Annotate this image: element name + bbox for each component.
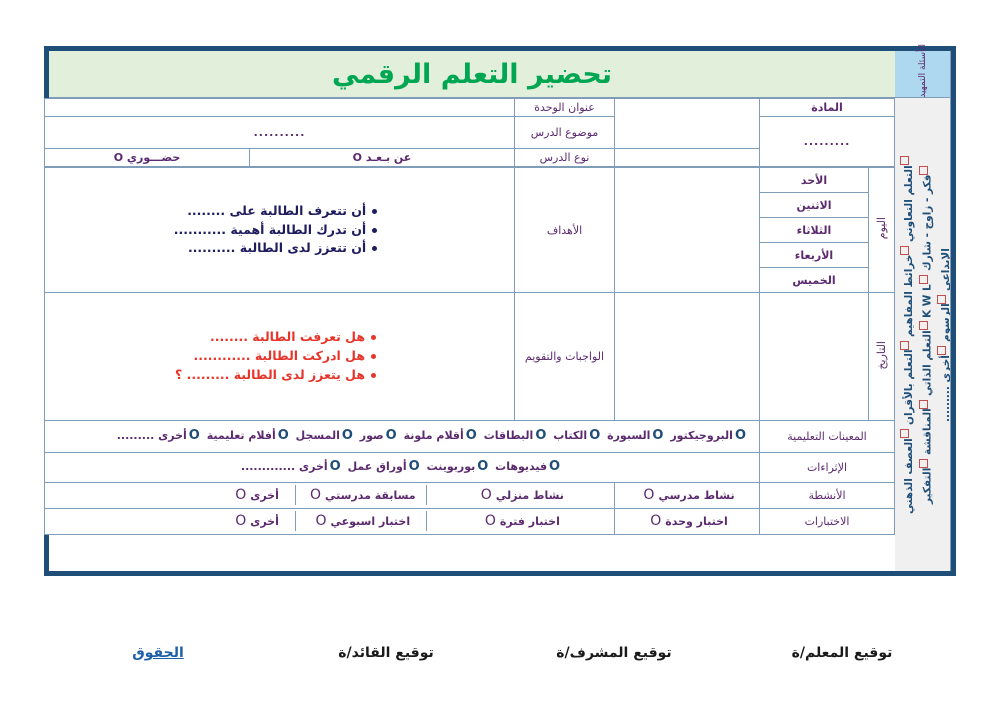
circle-icon[interactable]: O: [409, 459, 420, 474]
lesson-type-present-text: حضـــوري: [127, 151, 180, 164]
circle-icon[interactable]: O: [481, 487, 492, 503]
subject-extra-cell: [615, 99, 760, 149]
assessment-list: هل تعرفت الطالبة ........ هل ادركت الطال…: [175, 328, 384, 384]
goals-content-cell[interactable]: أن تتعرف الطالبة على ........ أن تدرك ال…: [45, 168, 515, 293]
strategy-item[interactable]: أخرى .........: [939, 345, 950, 421]
checkbox-icon[interactable]: [900, 340, 909, 349]
topic-value-field[interactable]: ..........: [45, 117, 515, 149]
lesson-type-remote-option[interactable]: عن بـعـد O: [250, 149, 515, 167]
day-monday[interactable]: الاثنين: [760, 193, 869, 218]
strategy-item[interactable]: الرسوم: [939, 294, 950, 342]
list-item: أن تدرك الطالبة أهمية ...........: [174, 221, 385, 240]
assessment-content-cell[interactable]: هل تعرفت الطالبة ........ هل ادركت الطال…: [45, 293, 515, 421]
circle-icon[interactable]: O: [650, 513, 661, 529]
lesson-type-label: نوع الدرس: [515, 149, 615, 167]
assessment-text: هل تعرفت الطالبة ........: [210, 329, 365, 344]
circle-icon[interactable]: O: [535, 428, 546, 443]
checkbox-icon[interactable]: [918, 321, 927, 330]
bullet-icon: [372, 209, 377, 214]
circle-icon[interactable]: O: [342, 428, 353, 443]
lesson-type-remote-circle-icon[interactable]: O: [353, 151, 362, 164]
circle-icon[interactable]: O: [549, 459, 560, 474]
assessment-text: هل يتعزز لدى الطالبة ......... ؟: [175, 367, 365, 382]
sidebar-body[interactable]: التعلم التعاوني خرائط المفاهيم التعلم با…: [895, 98, 950, 571]
strategy-item[interactable]: التعلم بالأقران: [903, 340, 915, 425]
checkbox-icon[interactable]: [918, 165, 927, 174]
activities-rest-cell: نشاط منزليO مسابقة مدرستيO أخرىO: [45, 482, 615, 508]
circle-icon[interactable]: O: [278, 428, 289, 443]
bullet-icon: [371, 373, 376, 378]
option-cards[interactable]: Oالبطاقات: [484, 429, 550, 442]
strategy-item[interactable]: المناقشة: [921, 399, 933, 455]
strategy-item[interactable]: العصف الذهني: [903, 428, 915, 513]
signature-footer: توقيع المعلم/ة توقيع المشرف/ة توقيع القا…: [44, 645, 956, 685]
bullet-icon: [372, 246, 377, 251]
table-row-activities: الأنشطة نشاط مدرسيO نشاط منزليO مسابقة م…: [45, 482, 895, 508]
signature-supervisor: توقيع المشرف/ة: [500, 645, 728, 661]
circle-icon[interactable]: O: [189, 428, 200, 443]
strategy-item[interactable]: فكر - زاوج - شارك: [921, 165, 933, 271]
goal-text: أن تتعرف الطالبة على ........: [187, 203, 366, 218]
lesson-plan-page: تحضير التعلم الرقمي المادة عنوان الوحدة …: [0, 0, 1000, 707]
option-projector[interactable]: Oالبروجيكتور: [670, 429, 749, 442]
bullet-icon: [371, 335, 376, 340]
activities-label: الأنشطة: [760, 482, 895, 508]
list-item: هل يتعزز لدى الطالبة ......... ؟: [175, 366, 384, 385]
day-vertical-label: اليوم: [869, 168, 895, 293]
option-worksheets[interactable]: Oأوراق عمل: [348, 460, 423, 473]
goal-text: أن تتعزز لدى الطالبة ..........: [188, 240, 366, 255]
checkbox-icon[interactable]: [918, 399, 927, 408]
circle-icon[interactable]: O: [485, 513, 496, 529]
strategies-sidebar: الأسئلة التمهيدية التعلم التعاوني خرائط …: [895, 51, 951, 571]
lesson-plan-frame: تحضير التعلم الرقمي المادة عنوان الوحدة …: [44, 46, 956, 576]
checkbox-icon[interactable]: [937, 345, 946, 354]
lesson-body-table: اليوم الأحد الأهداف أن تتعرف الطالبة على…: [44, 167, 895, 535]
option-powerpoint[interactable]: Oبوربوينت: [427, 460, 492, 473]
rights-link[interactable]: الحقوق: [44, 645, 272, 661]
page-title-bar: تحضير التعلم الرقمي: [49, 51, 895, 98]
table-row-date-assessment: التاريخ الواجبات والتقويم هل تعرفت الطال…: [45, 293, 895, 421]
circle-icon[interactable]: O: [310, 487, 321, 503]
unit-label: عنوان الوحدة: [515, 99, 615, 117]
assessment-text: هل ادركت الطالبة ............: [194, 348, 365, 363]
option-other[interactable]: Oأخرى .............: [241, 460, 344, 473]
main-content-column: تحضير التعلم الرقمي المادة عنوان الوحدة …: [49, 51, 895, 571]
day-thursday[interactable]: الخميس: [760, 268, 869, 293]
activity-school[interactable]: نشاط مدرسيO: [615, 482, 760, 508]
option-recorder[interactable]: Oالمسجل: [296, 429, 356, 442]
circle-icon[interactable]: O: [643, 487, 654, 503]
header-info-table: المادة عنوان الوحدة ......... موضوع الدر…: [44, 98, 895, 167]
table-row-day-1: اليوم الأحد الأهداف أن تتعرف الطالبة على…: [45, 168, 895, 193]
table-row-tests: الاختبارات اختبار وحدةO اختبار فترةO اخت…: [45, 508, 895, 534]
circle-icon[interactable]: O: [477, 459, 488, 474]
sidebar-header: الأسئلة التمهيدية: [895, 51, 950, 98]
checkbox-icon[interactable]: [918, 459, 927, 468]
list-item: أن تتعرف الطالبة على ........: [174, 202, 385, 221]
strategy-item[interactable]: K W L: [921, 274, 933, 317]
option-colored-pens[interactable]: Oأقلام ملونة: [404, 429, 480, 442]
checkbox-icon[interactable]: [918, 274, 927, 283]
date-vertical-label: التاريخ: [869, 293, 895, 421]
checkbox-icon[interactable]: [900, 156, 909, 165]
day-notes-cell[interactable]: [615, 168, 760, 293]
activity-other[interactable]: أخرىO: [45, 485, 295, 505]
option-pictures[interactable]: Oصور: [360, 429, 400, 442]
circle-icon[interactable]: O: [235, 513, 246, 529]
aids-options-cell[interactable]: Oالبروجيكتور Oالسبورة Oالكتاب Oالبطاقات …: [45, 421, 760, 453]
circle-icon[interactable]: O: [386, 428, 397, 443]
test-period[interactable]: اختبار فترةO: [426, 511, 614, 531]
list-item: هل ادركت الطالبة ............: [175, 347, 384, 366]
strategies-list: التعلم التعاوني خرائط المفاهيم التعلم با…: [900, 151, 946, 519]
aids-label: المعينات التعليمية: [760, 421, 895, 453]
table-row-unit: المادة عنوان الوحدة: [45, 99, 895, 117]
bullet-icon: [371, 354, 376, 359]
list-item: هل تعرفت الطالبة ........: [175, 328, 384, 347]
lesson-type-present-circle-icon[interactable]: O: [114, 151, 123, 164]
unit-value-field[interactable]: [45, 99, 515, 117]
goals-label: الأهداف: [515, 168, 615, 293]
checkbox-icon[interactable]: [900, 428, 909, 437]
day-vertical-label-text: اليوم: [875, 217, 888, 239]
date-notes-cell[interactable]: [615, 293, 760, 421]
lesson-type-present-option[interactable]: حضـــوري O: [45, 149, 250, 167]
topic-label: موضوع الدرس: [515, 117, 615, 149]
circle-icon[interactable]: O: [330, 459, 341, 474]
date-value-field[interactable]: [760, 293, 869, 421]
checkbox-icon[interactable]: [937, 294, 946, 303]
signature-teacher: توقيع المعلم/ة: [728, 645, 956, 661]
sidebar-header-text: الأسئلة التمهيدية: [918, 44, 928, 105]
tests-rest-cell: اختبار فترةO اختبار اسبوعيO أخرىO: [45, 508, 615, 534]
strategy-item[interactable]: التعلم التعاوني: [903, 156, 915, 242]
page-title: تحضير التعلم الرقمي: [332, 59, 612, 90]
checkbox-icon[interactable]: [900, 245, 909, 254]
type-extra-cell: [615, 149, 760, 167]
circle-icon[interactable]: O: [466, 428, 477, 443]
circle-icon[interactable]: O: [235, 487, 246, 503]
goal-text: أن تدرك الطالبة أهمية ...........: [174, 222, 366, 237]
activity-home[interactable]: نشاط منزليO: [426, 485, 614, 505]
enrichment-options-cell[interactable]: Oفيديوهات Oبوربوينت Oأوراق عمل Oأخرى ...…: [45, 453, 760, 483]
test-other[interactable]: أخرىO: [45, 511, 295, 531]
bullet-icon: [372, 228, 377, 233]
subject-label: المادة: [760, 99, 895, 117]
lesson-type-remote-text: عن بـعـد: [366, 151, 411, 164]
option-other[interactable]: Oأخرى .........: [117, 429, 203, 442]
strategy-item[interactable]: التعلم الذاتي: [921, 321, 933, 396]
option-educational-films[interactable]: Oأفلام تعليمية: [207, 429, 292, 442]
option-book[interactable]: Oالكتاب: [553, 429, 603, 442]
assessment-label: الواجبات والتقويم: [515, 293, 615, 421]
option-board[interactable]: Oالسبورة: [607, 429, 666, 442]
day-sunday[interactable]: الأحد: [760, 168, 869, 193]
day-wednesday[interactable]: الأربعاء: [760, 243, 869, 268]
circle-icon[interactable]: O: [589, 428, 600, 443]
table-row-topic: ......... موضوع الدرس ..........: [45, 117, 895, 149]
subject-value-field[interactable]: .........: [760, 117, 895, 167]
signature-leader: توقيع القائد/ة: [272, 645, 500, 661]
test-unit[interactable]: اختبار وحدةO: [615, 508, 760, 534]
table-row-aids: المعينات التعليمية Oالبروجيكتور Oالسبورة…: [45, 421, 895, 453]
date-vertical-label-text: التاريخ: [875, 341, 888, 370]
option-videos[interactable]: Oفيديوهات: [495, 460, 563, 473]
circle-icon[interactable]: O: [652, 428, 663, 443]
circle-icon[interactable]: O: [315, 513, 326, 529]
goals-list: أن تتعرف الطالبة على ........ أن تدرك ال…: [174, 202, 385, 258]
tests-label: الاختبارات: [760, 508, 895, 534]
table-row-enrichment: الإثراءات Oفيديوهات Oبوربوينت Oأوراق عمل…: [45, 453, 895, 483]
list-item: أن تتعزز لدى الطالبة ..........: [174, 239, 385, 258]
circle-icon[interactable]: O: [735, 428, 746, 443]
strategy-item[interactable]: خرائط المفاهيم: [903, 245, 915, 336]
activity-contest[interactable]: مسابقة مدرستيO: [295, 485, 426, 505]
day-tuesday[interactable]: الثلاثاء: [760, 218, 869, 243]
test-weekly[interactable]: اختبار اسبوعيO: [295, 511, 426, 531]
enrichment-label: الإثراءات: [760, 453, 895, 483]
